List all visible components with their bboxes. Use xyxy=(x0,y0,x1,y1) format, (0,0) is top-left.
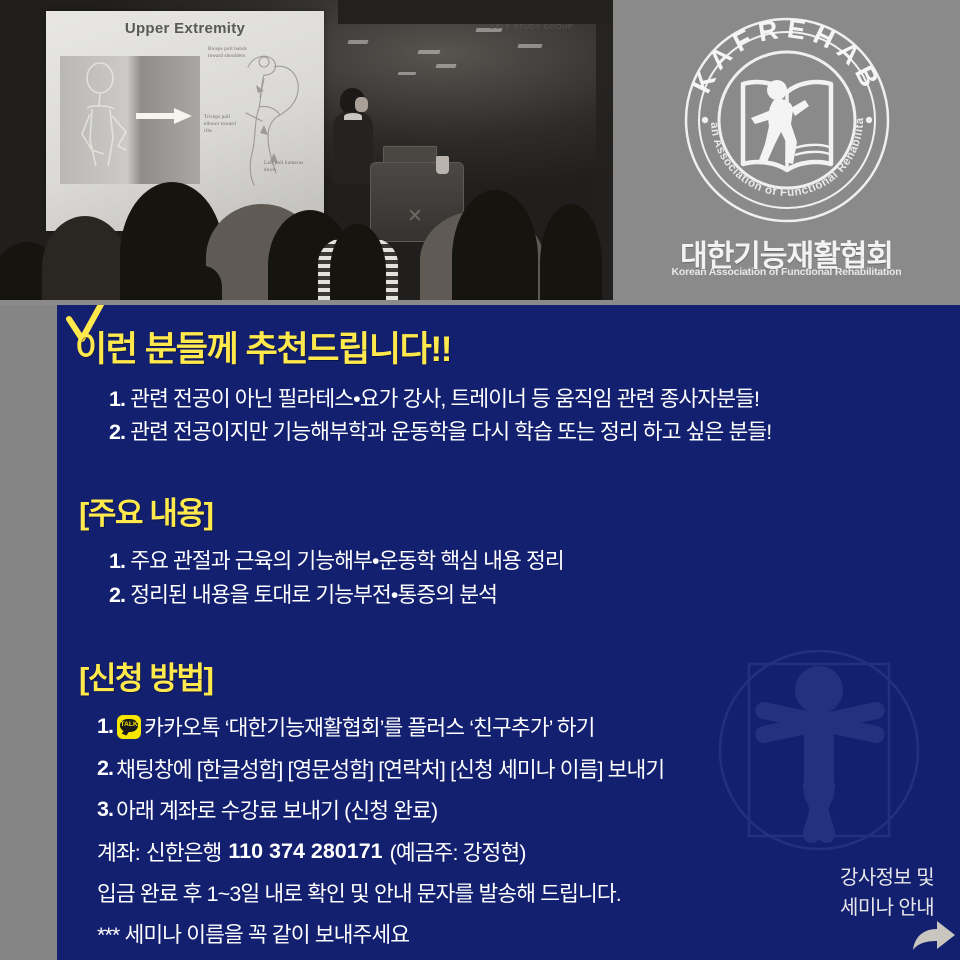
recommend-item-number: 2. xyxy=(109,420,125,444)
ceiling-light xyxy=(517,44,542,48)
recommend-item-text: 관련 전공이 아닌 필라테스•요가 강사, 트레이너 등 움직임 관련 종사자분… xyxy=(130,387,759,411)
room-ceiling-bar xyxy=(338,0,613,24)
apply-step-2: 2. 채팅창에 [한글성함] [영문성함] [연락처] [신청 세미나 이름] … xyxy=(97,753,664,784)
left-gray-margin xyxy=(0,305,57,960)
apply-step-3-text: 아래 계좌로 수강료 보내기 (신청 완료) xyxy=(116,794,437,825)
presenter-collar xyxy=(344,113,362,120)
footer-note: 강사정보 및 세미나 안내 xyxy=(840,863,934,923)
vitruvian-man-icon xyxy=(716,650,922,856)
logo-ring-text: KAFREHAB xyxy=(686,14,887,98)
apply-step-1-text: 카카오톡 ‘대한기능재활협회’를 플러스 ‘친구추가’ 하기 xyxy=(144,711,594,742)
ceiling-light xyxy=(435,64,456,68)
forward-arrow-icon[interactable] xyxy=(909,918,957,954)
ceiling-light xyxy=(417,50,440,54)
audience-head xyxy=(186,266,222,300)
apply-step-3-number: 3. xyxy=(97,797,113,822)
main-content-item-text: 정리된 내용을 토대로 기능부전•통증의 분석 xyxy=(130,583,497,607)
apply-step-1: 1. TALK 카카오톡 ‘대한기능재활협회’를 플러스 ‘친구추가’ 하기 xyxy=(97,711,595,742)
presenter-body xyxy=(333,112,373,184)
slide-image-panel xyxy=(60,56,200,184)
slide-arrow-icon xyxy=(136,108,192,124)
recommend-headline: 이런 분들께 추천드립니다!! xyxy=(75,321,451,372)
recommend-item-text: 관련 전공이지만 기능해부학과 운동학을 다시 학습 또는 정리 하고 싶은 분… xyxy=(130,420,771,444)
main-content-item-number: 1. xyxy=(109,549,125,573)
slide-note: Lats pull humerus down xyxy=(264,161,304,175)
recommend-item: 2. 관련 전공이지만 기능해부학과 운동학을 다시 학습 또는 정리 하고 싶… xyxy=(109,416,771,448)
warning-note: *** 세미나 이름을 꼭 같이 보내주세요 xyxy=(97,918,409,949)
content-panel: 이런 분들께 추천드립니다!! 1. 관련 전공이 아닌 필라테스•요가 강사,… xyxy=(57,305,960,960)
apply-title: [신청 방법] xyxy=(79,653,213,698)
kakaotalk-icon[interactable]: TALK xyxy=(117,715,141,739)
logo-english-name: Korean Association of Functional Rehabil… xyxy=(613,266,960,278)
account-line: 계좌: 신한은행 110 374 280171 (예금주: 강정현) xyxy=(97,836,526,867)
runner-icon xyxy=(751,80,809,164)
top-band: SELF STUDY GROUP Upper Extremity xyxy=(0,0,960,305)
slide-note: Triceps pull elbows toward ribs xyxy=(204,115,240,135)
lecture-photo: SELF STUDY GROUP Upper Extremity xyxy=(0,0,613,300)
ceiling-light xyxy=(347,40,368,44)
account-number: 110 374 280171 xyxy=(228,839,382,864)
svg-text:KAFREHAB: KAFREHAB xyxy=(686,14,887,98)
kakaotalk-label: TALK xyxy=(117,721,141,728)
account-label: 계좌: xyxy=(97,836,140,867)
wall-sign-text: SELF STUDY GROUP xyxy=(490,24,573,31)
cup xyxy=(436,156,449,174)
apply-step-3: 3. 아래 계좌로 수강료 보내기 (신청 완료) xyxy=(97,794,437,825)
main-content-item: 1. 주요 관절과 근육의 기능해부•운동학 핵심 내용 정리 xyxy=(109,545,564,577)
apply-step-2-text: 채팅창에 [한글성함] [영문성함] [연락처] [신청 세미나 이름] 보내기 xyxy=(116,753,664,784)
main-content-item-text: 주요 관절과 근육의 기능해부•운동학 핵심 내용 정리 xyxy=(130,549,564,573)
poster-root: SELF STUDY GROUP Upper Extremity xyxy=(0,0,960,960)
podium-logo-icon: ✕ xyxy=(407,207,427,227)
apply-step-1-number: 1. xyxy=(97,714,113,739)
main-content-title: [주요 내용] xyxy=(79,488,213,533)
main-content-item-number: 2. xyxy=(109,583,125,607)
apply-step-2-number: 2. xyxy=(97,756,113,781)
confirm-note: 입금 완료 후 1~3일 내로 확인 및 안내 문자를 발송해 드립니다. xyxy=(97,877,621,908)
slide-note: Biceps pull hands toward shoulders xyxy=(208,47,248,61)
logo-area: KAFREHAB Korean Association of Functiona… xyxy=(613,0,960,305)
slide-title: Upper Extremity xyxy=(46,20,324,37)
account-bank: 신한은행 xyxy=(146,836,222,867)
recommend-item: 1. 관련 전공이 아닌 필라테스•요가 강사, 트레이너 등 움직임 관련 종… xyxy=(109,383,759,415)
account-holder: (예금주: 강정현) xyxy=(390,836,526,867)
main-content-item: 2. 정리된 내용을 토대로 기능부전•통증의 분석 xyxy=(109,579,497,611)
presenter-face xyxy=(355,97,368,112)
ceiling-light xyxy=(398,72,417,75)
footer-line-1: 강사정보 및 xyxy=(840,863,934,893)
recommend-item-number: 1. xyxy=(109,387,125,411)
kafrehab-logo-icon: KAFREHAB Korean Association of Functiona… xyxy=(681,14,893,226)
